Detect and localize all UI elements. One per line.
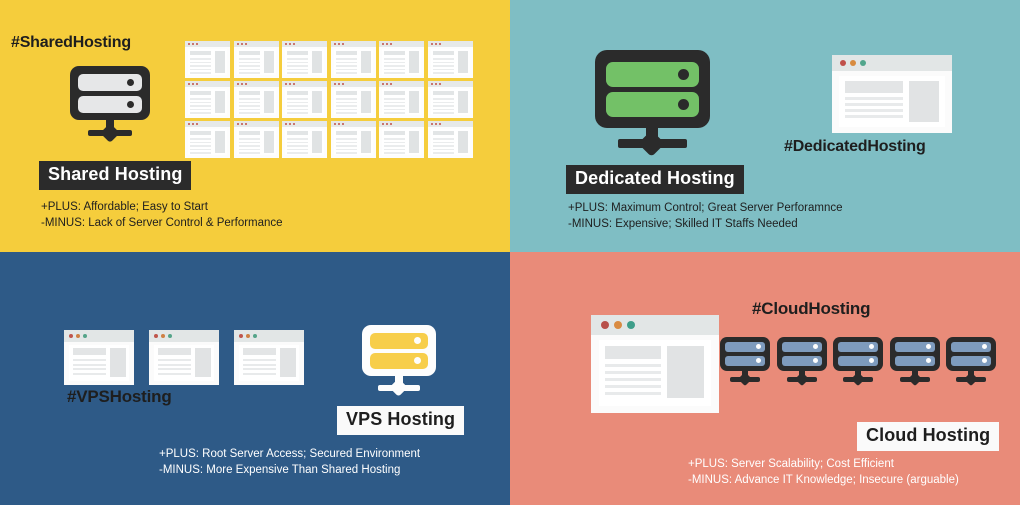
tile-text-line: [336, 98, 357, 100]
window-text-line: [73, 368, 106, 370]
tile-text-line: [433, 149, 454, 151]
tile-text-line: [384, 62, 405, 64]
window-dot: [435, 123, 437, 125]
window-dot: [342, 43, 344, 45]
browser-window-tile: [185, 121, 230, 158]
browser-window-tile: [282, 121, 327, 158]
window-side-block: [110, 348, 126, 377]
tile-body: [382, 89, 421, 115]
tile-text-line: [336, 72, 357, 74]
browser-window-tile: [428, 121, 473, 158]
server-icon: [595, 50, 710, 150]
tile-text-line: [384, 138, 405, 140]
tile-header-block: [384, 131, 405, 135]
tile-text-line: [239, 152, 260, 154]
window-dot: [334, 43, 336, 45]
tile-text-line: [336, 109, 357, 111]
minus-line-dedicated: -MINUS: Expensive; Skilled IT Staffs Nee…: [568, 217, 843, 233]
window-dot: [439, 83, 441, 85]
tile-text-line: [287, 72, 308, 74]
window-dot: [334, 83, 336, 85]
plus-line-vps: +PLUS: Root Server Access; Secured Envir…: [159, 447, 420, 463]
hashtag-cloud-hosting: #CloudHosting: [752, 299, 870, 319]
tile-text-line: [287, 109, 308, 111]
tile-text-line: [384, 69, 405, 71]
window-header-block: [243, 348, 276, 355]
server-icon: [833, 337, 883, 385]
minus-line-shared: -MINUS: Lack of Server Control & Perform…: [41, 216, 283, 232]
tile-text-line: [336, 105, 357, 107]
window-dot: [245, 123, 247, 125]
tile-text-line: [287, 145, 308, 147]
server-icon: [362, 325, 436, 397]
plus-line-shared: +PLUS: Affordable; Easy to Start: [41, 200, 283, 216]
tile-text-line: [239, 72, 260, 74]
tile-side-block: [264, 131, 274, 153]
tile-text-line: [239, 98, 260, 100]
window-dot: [386, 83, 388, 85]
window-dot: [293, 83, 295, 85]
badge-vps-hosting: VPS Hosting: [337, 406, 464, 435]
window-dot: [439, 43, 441, 45]
window-dot: [431, 43, 433, 45]
server-led: [756, 358, 761, 363]
tile-side-block: [409, 91, 419, 113]
tile-text-line: [287, 102, 308, 104]
tile-body: [334, 89, 373, 115]
window-text-line: [243, 364, 276, 366]
tile-text-line: [287, 105, 308, 107]
tile-text-line: [433, 69, 454, 71]
tile-text-line: [239, 102, 260, 104]
tile-text-line: [336, 65, 357, 67]
tile-text-line: [287, 112, 308, 114]
browser-window-tile: [234, 81, 279, 118]
window-dot: [435, 43, 437, 45]
window-dot: [237, 123, 239, 125]
tile-text-line: [239, 149, 260, 151]
browser-window: [234, 330, 304, 385]
tile-text-line: [336, 69, 357, 71]
browser-window-tile: [185, 41, 230, 78]
badge-shared-hosting: Shared Hosting: [39, 161, 191, 190]
server-icon: [720, 337, 770, 385]
window-dot: [196, 123, 198, 125]
tile-body: [237, 129, 276, 155]
tile-text-line: [384, 109, 405, 111]
tile-text-line: [190, 58, 211, 60]
window-text-line: [243, 359, 276, 361]
quadrant-dedicated-hosting: #DedicatedHosting Dedicated Hosting +PLU…: [510, 0, 1020, 253]
tile-side-block: [312, 91, 322, 113]
tile-text-line: [336, 149, 357, 151]
pros-cons-shared-hosting: +PLUS: Affordable; Easy to Start -MINUS:…: [41, 200, 283, 231]
tile-text-line: [384, 102, 405, 104]
tile-text-line: [336, 62, 357, 64]
server-led: [926, 358, 931, 363]
tile-text-line: [336, 145, 357, 147]
tile-text-line: [239, 109, 260, 111]
tile-text-line: [384, 145, 405, 147]
tile-header-block: [433, 131, 454, 135]
window-dot: [386, 123, 388, 125]
browser-window: [832, 55, 952, 133]
window-text-line: [73, 373, 106, 375]
badge-dedicated-hosting: Dedicated Hosting: [566, 165, 744, 194]
tile-text-line: [239, 69, 260, 71]
tile-text-line: [190, 105, 211, 107]
server-icon: [777, 337, 827, 385]
tile-text-line: [384, 152, 405, 154]
window-dot: [83, 334, 87, 338]
tile-text-line: [433, 109, 454, 111]
tile-text-line: [336, 58, 357, 60]
tile-text-line: [384, 112, 405, 114]
window-header-block: [158, 348, 191, 355]
tile-text-line: [190, 98, 211, 100]
window-dot: [293, 123, 295, 125]
window-dot: [192, 43, 194, 45]
tile-text-line: [433, 152, 454, 154]
tile-text-line: [239, 62, 260, 64]
tile-body: [285, 89, 324, 115]
tile-text-line: [190, 65, 211, 67]
window-dot: [439, 123, 441, 125]
server-led: [869, 358, 874, 363]
tile-body: [334, 49, 373, 75]
window-dot: [285, 123, 287, 125]
tile-text-line: [384, 149, 405, 151]
window-titlebar: [149, 330, 219, 342]
tile-text-line: [336, 138, 357, 140]
window-dot: [188, 83, 190, 85]
browser-window-tile: [282, 41, 327, 78]
pros-cons-dedicated-hosting: +PLUS: Maximum Control; Great Server Per…: [568, 201, 843, 232]
tile-body: [188, 49, 227, 75]
tile-header-block: [433, 51, 454, 55]
tile-text-line: [433, 145, 454, 147]
tile-header-block: [384, 91, 405, 95]
tile-text-line: [190, 72, 211, 74]
tile-text-line: [190, 112, 211, 114]
tile-header-block: [287, 51, 308, 55]
tile-text-line: [239, 105, 260, 107]
hashtag-dedicated-hosting: #DedicatedHosting: [784, 138, 926, 156]
tile-text-line: [239, 65, 260, 67]
tile-side-block: [458, 51, 468, 73]
quadrant-cloud-hosting: #CloudHosting Cloud Hosting +PLUS: Serve…: [510, 252, 1020, 505]
tile-header-block: [336, 51, 357, 55]
tile-side-block: [264, 51, 274, 73]
tile-text-line: [287, 62, 308, 64]
tile-header-block: [287, 131, 308, 135]
tile-body: [285, 129, 324, 155]
tile-header-block: [190, 91, 211, 95]
tile-body: [431, 49, 470, 75]
window-dot: [431, 83, 433, 85]
tile-text-line: [384, 58, 405, 60]
window-text-line: [158, 359, 191, 361]
browser-window-tile: [331, 121, 376, 158]
window-text-line: [73, 359, 106, 361]
tile-text-line: [239, 145, 260, 147]
window-dot: [285, 43, 287, 45]
window-dot: [382, 123, 384, 125]
tile-text-line: [384, 98, 405, 100]
plus-line-cloud: +PLUS: Server Scalability; Cost Efficien…: [688, 457, 959, 473]
window-dot: [342, 83, 344, 85]
window-text-line: [158, 373, 191, 375]
window-side-block: [195, 348, 211, 377]
tile-text-line: [384, 105, 405, 107]
window-titlebar: [64, 330, 134, 342]
tile-text-line: [190, 152, 211, 154]
window-dot: [237, 83, 239, 85]
server-base-knot: [738, 372, 752, 386]
window-dot: [382, 43, 384, 45]
browser-window: [149, 330, 219, 385]
tile-header-block: [433, 91, 454, 95]
server-led: [926, 344, 931, 349]
tile-body: [431, 129, 470, 155]
window-dot: [293, 43, 295, 45]
tile-text-line: [239, 138, 260, 140]
window-dot: [245, 83, 247, 85]
tile-text-line: [336, 142, 357, 144]
window-text-line: [243, 368, 276, 370]
window-dot: [289, 83, 291, 85]
tile-text-line: [190, 109, 211, 111]
tile-body: [188, 129, 227, 155]
window-text-line: [73, 364, 106, 366]
tile-text-line: [433, 98, 454, 100]
tile-text-line: [287, 138, 308, 140]
tile-header-block: [336, 131, 357, 135]
window-dot: [289, 123, 291, 125]
browser-window-tile: [234, 41, 279, 78]
server-icon: [70, 66, 150, 141]
server-base-knot: [794, 372, 808, 386]
tile-body: [334, 129, 373, 155]
hashtag-vps-hosting: #VPSHosting: [67, 387, 172, 407]
window-dot: [237, 43, 239, 45]
tile-side-block: [312, 51, 322, 73]
browser-window-tile: [282, 81, 327, 118]
window-dot: [241, 123, 243, 125]
tile-body: [382, 129, 421, 155]
tile-text-line: [190, 102, 211, 104]
window-side-block: [280, 348, 296, 377]
tile-text-line: [433, 72, 454, 74]
tile-text-line: [287, 152, 308, 154]
tile-text-line: [433, 62, 454, 64]
window-dot: [289, 43, 291, 45]
window-dot: [338, 123, 340, 125]
window-dot: [382, 83, 384, 85]
window-text-line: [158, 368, 191, 370]
tile-side-block: [361, 91, 371, 113]
server-led: [982, 344, 987, 349]
tile-text-line: [433, 142, 454, 144]
tile-side-block: [215, 51, 225, 73]
server-led: [869, 344, 874, 349]
browser-window-tile: [379, 121, 424, 158]
server-led: [982, 358, 987, 363]
pros-cons-cloud-hosting: +PLUS: Server Scalability; Cost Efficien…: [688, 457, 959, 488]
window-dot: [338, 83, 340, 85]
window-dot: [188, 123, 190, 125]
window-text-line: [243, 373, 276, 375]
hashtag-shared-hosting: #SharedHosting: [11, 34, 131, 52]
window-dot: [390, 43, 392, 45]
tile-text-line: [190, 149, 211, 151]
tile-text-line: [384, 142, 405, 144]
tile-side-block: [361, 51, 371, 73]
server-icon: [890, 337, 940, 385]
server-led: [813, 358, 818, 363]
server-base-knot: [851, 372, 865, 386]
tile-text-line: [287, 142, 308, 144]
window-dot: [168, 334, 172, 338]
hosting-comparison-infographic: #SharedHosting Shared Hosting +PLUS: Aff…: [0, 0, 1020, 505]
tile-text-line: [433, 112, 454, 114]
tile-side-block: [361, 131, 371, 153]
server-base-knot: [964, 372, 978, 386]
window-dot: [334, 123, 336, 125]
window-dot: [245, 43, 247, 45]
tile-text-line: [190, 62, 211, 64]
tile-text-line: [433, 105, 454, 107]
tile-text-line: [190, 69, 211, 71]
tile-header-block: [384, 51, 405, 55]
window-dot: [390, 123, 392, 125]
server-led: [756, 344, 761, 349]
tile-header-block: [190, 131, 211, 135]
tile-body: [237, 89, 276, 115]
window-dot: [253, 334, 257, 338]
browser-window-tile: [331, 81, 376, 118]
window-dot: [188, 43, 190, 45]
browser-window-tile: [185, 81, 230, 118]
window-dot: [192, 83, 194, 85]
window-header-block: [73, 348, 106, 355]
pros-cons-vps-hosting: +PLUS: Root Server Access; Secured Envir…: [159, 447, 420, 478]
window-dot: [69, 334, 73, 338]
window-dot: [76, 334, 80, 338]
tile-text-line: [433, 138, 454, 140]
tile-text-line: [336, 102, 357, 104]
tile-side-block: [215, 91, 225, 113]
tile-text-line: [190, 145, 211, 147]
tile-body: [237, 49, 276, 75]
tile-body: [382, 49, 421, 75]
window-dot: [241, 83, 243, 85]
window-dot: [161, 334, 165, 338]
window-dot: [192, 123, 194, 125]
window-titlebar: [234, 330, 304, 342]
window-dot: [342, 123, 344, 125]
plus-line-dedicated: +PLUS: Maximum Control; Great Server Per…: [568, 201, 843, 217]
browser-window-tile: [379, 41, 424, 78]
browser-window: [591, 315, 719, 413]
tile-text-line: [287, 65, 308, 67]
tile-text-line: [336, 112, 357, 114]
window-dot: [386, 43, 388, 45]
browser-window-tile: [379, 81, 424, 118]
tile-side-block: [458, 91, 468, 113]
tile-text-line: [239, 58, 260, 60]
window-dot: [338, 43, 340, 45]
tile-text-line: [287, 58, 308, 60]
tile-header-block: [287, 91, 308, 95]
window-dot: [241, 43, 243, 45]
tile-text-line: [287, 149, 308, 151]
tile-text-line: [239, 142, 260, 144]
tile-text-line: [384, 65, 405, 67]
quadrant-vps-hosting: #VPSHosting VPS Hosting +PLUS: Root Serv…: [0, 252, 510, 505]
quadrant-shared-hosting: #SharedHosting Shared Hosting +PLUS: Aff…: [0, 0, 510, 253]
badge-cloud-hosting: Cloud Hosting: [857, 422, 999, 451]
tile-side-block: [312, 131, 322, 153]
tile-text-line: [433, 58, 454, 60]
window-dot: [196, 83, 198, 85]
window-dot: [431, 123, 433, 125]
window-dot: [196, 43, 198, 45]
window-dot: [246, 334, 250, 338]
browser-window-tile: [428, 41, 473, 78]
tile-text-line: [190, 138, 211, 140]
minus-line-cloud: -MINUS: Advance IT Knowledge; Insecure (…: [688, 473, 959, 489]
tile-header-block: [239, 91, 260, 95]
browser-window-tile: [428, 81, 473, 118]
tile-side-block: [409, 51, 419, 73]
window-dot: [239, 334, 243, 338]
window-text-line: [158, 364, 191, 366]
tile-header-block: [239, 51, 260, 55]
browser-window-tile: [234, 121, 279, 158]
tile-text-line: [384, 72, 405, 74]
tile-text-line: [190, 142, 211, 144]
tile-body: [285, 49, 324, 75]
window-dot: [154, 334, 158, 338]
tile-text-line: [287, 69, 308, 71]
tile-text-line: [287, 98, 308, 100]
server-led: [813, 344, 818, 349]
window-dot: [435, 83, 437, 85]
server-icon: [946, 337, 996, 385]
browser-window-tile: [331, 41, 376, 78]
tile-text-line: [336, 152, 357, 154]
tile-side-block: [409, 131, 419, 153]
tile-body: [188, 89, 227, 115]
tile-text-line: [239, 112, 260, 114]
tile-header-block: [239, 131, 260, 135]
tile-text-line: [433, 102, 454, 104]
tile-body: [431, 89, 470, 115]
browser-window: [64, 330, 134, 385]
tile-side-block: [215, 131, 225, 153]
tile-text-line: [433, 65, 454, 67]
tile-header-block: [336, 91, 357, 95]
server-base-knot: [907, 372, 921, 386]
window-dot: [285, 83, 287, 85]
tile-header-block: [190, 51, 211, 55]
minus-line-vps: -MINUS: More Expensive Than Shared Hosti…: [159, 463, 420, 479]
window-dot: [390, 83, 392, 85]
tile-side-block: [264, 91, 274, 113]
tile-side-block: [458, 131, 468, 153]
